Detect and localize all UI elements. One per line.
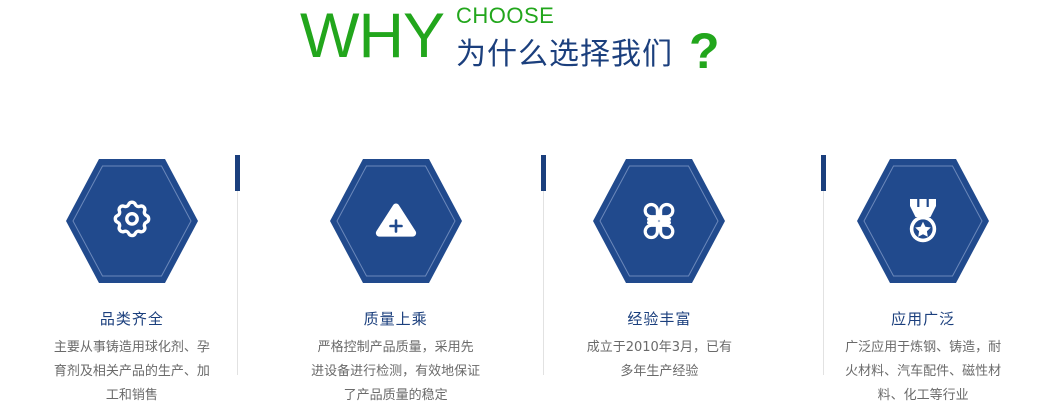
- feature-column-2: 质量上乘 严格控制产品质量，采用先 进设备进行检测，有效地保证 了产品质量的稳定: [264, 145, 528, 416]
- headline-choose: CHOOSE: [456, 4, 720, 28]
- hexagon-badge-4: [857, 155, 989, 287]
- feature-title: 应用广泛: [891, 309, 955, 329]
- description-line: 主要从事铸造用球化剂、孕: [16, 336, 248, 360]
- description-line: 火材料、汽车配件、磁性材: [807, 360, 1039, 384]
- headline-why: WHY: [300, 0, 444, 72]
- description-line: 进设备进行检测，有效地保证: [280, 360, 512, 384]
- gear-icon: [106, 195, 158, 247]
- why-choose-us-section: WHY CHOOSE 为什么选择我们 ?: [0, 0, 1055, 416]
- feature-title: 品类齐全: [100, 309, 164, 329]
- feature-column-1: 品类齐全 主要从事铸造用球化剂、孕 育剂及相关产品的生产、加 工和销售: [0, 145, 264, 416]
- feature-title: 质量上乘: [364, 309, 428, 329]
- feature-description: 成立于2010年3月，已有 多年生产经验: [543, 336, 775, 384]
- description-line: 料、化工等行业: [807, 384, 1039, 408]
- feature-column-4: 应用广泛 广泛应用于炼钢、铸造，耐 火材料、汽车配件、磁性材 料、化工等行业: [791, 145, 1055, 416]
- hexagon-badge-3: [593, 155, 725, 287]
- triangle-plus-icon: [370, 195, 422, 247]
- headline-stack: CHOOSE 为什么选择我们 ?: [456, 0, 720, 78]
- description-line: 严格控制产品质量，采用先: [280, 336, 512, 360]
- headline-chinese: 为什么选择我们: [456, 36, 673, 74]
- section-header: WHY CHOOSE 为什么选择我们 ?: [0, 0, 1055, 96]
- description-line: 成立于2010年3月，已有: [543, 336, 775, 360]
- hexagon-badge-1: [66, 155, 198, 287]
- clover-icon: [633, 195, 685, 247]
- headline-chinese-row: 为什么选择我们 ?: [456, 32, 720, 78]
- feature-description: 严格控制产品质量，采用先 进设备进行检测，有效地保证 了产品质量的稳定: [280, 336, 512, 408]
- question-mark-icon: ?: [689, 28, 720, 74]
- feature-columns: 品类齐全 主要从事铸造用球化剂、孕 育剂及相关产品的生产、加 工和销售: [0, 145, 1055, 416]
- medal-icon: [897, 195, 949, 247]
- feature-title: 经验丰富: [627, 309, 691, 329]
- description-line: 了产品质量的稳定: [280, 384, 512, 408]
- feature-description: 广泛应用于炼钢、铸造，耐 火材料、汽车配件、磁性材 料、化工等行业: [807, 336, 1039, 408]
- description-line: 工和销售: [16, 384, 248, 408]
- description-line: 育剂及相关产品的生产、加: [16, 360, 248, 384]
- description-line: 广泛应用于炼钢、铸造，耐: [807, 336, 1039, 360]
- feature-column-3: 经验丰富 成立于2010年3月，已有 多年生产经验: [528, 145, 792, 416]
- description-line: 多年生产经验: [543, 360, 775, 384]
- header-inner: WHY CHOOSE 为什么选择我们 ?: [300, 0, 720, 78]
- feature-description: 主要从事铸造用球化剂、孕 育剂及相关产品的生产、加 工和销售: [16, 336, 248, 408]
- hexagon-badge-2: [330, 155, 462, 287]
